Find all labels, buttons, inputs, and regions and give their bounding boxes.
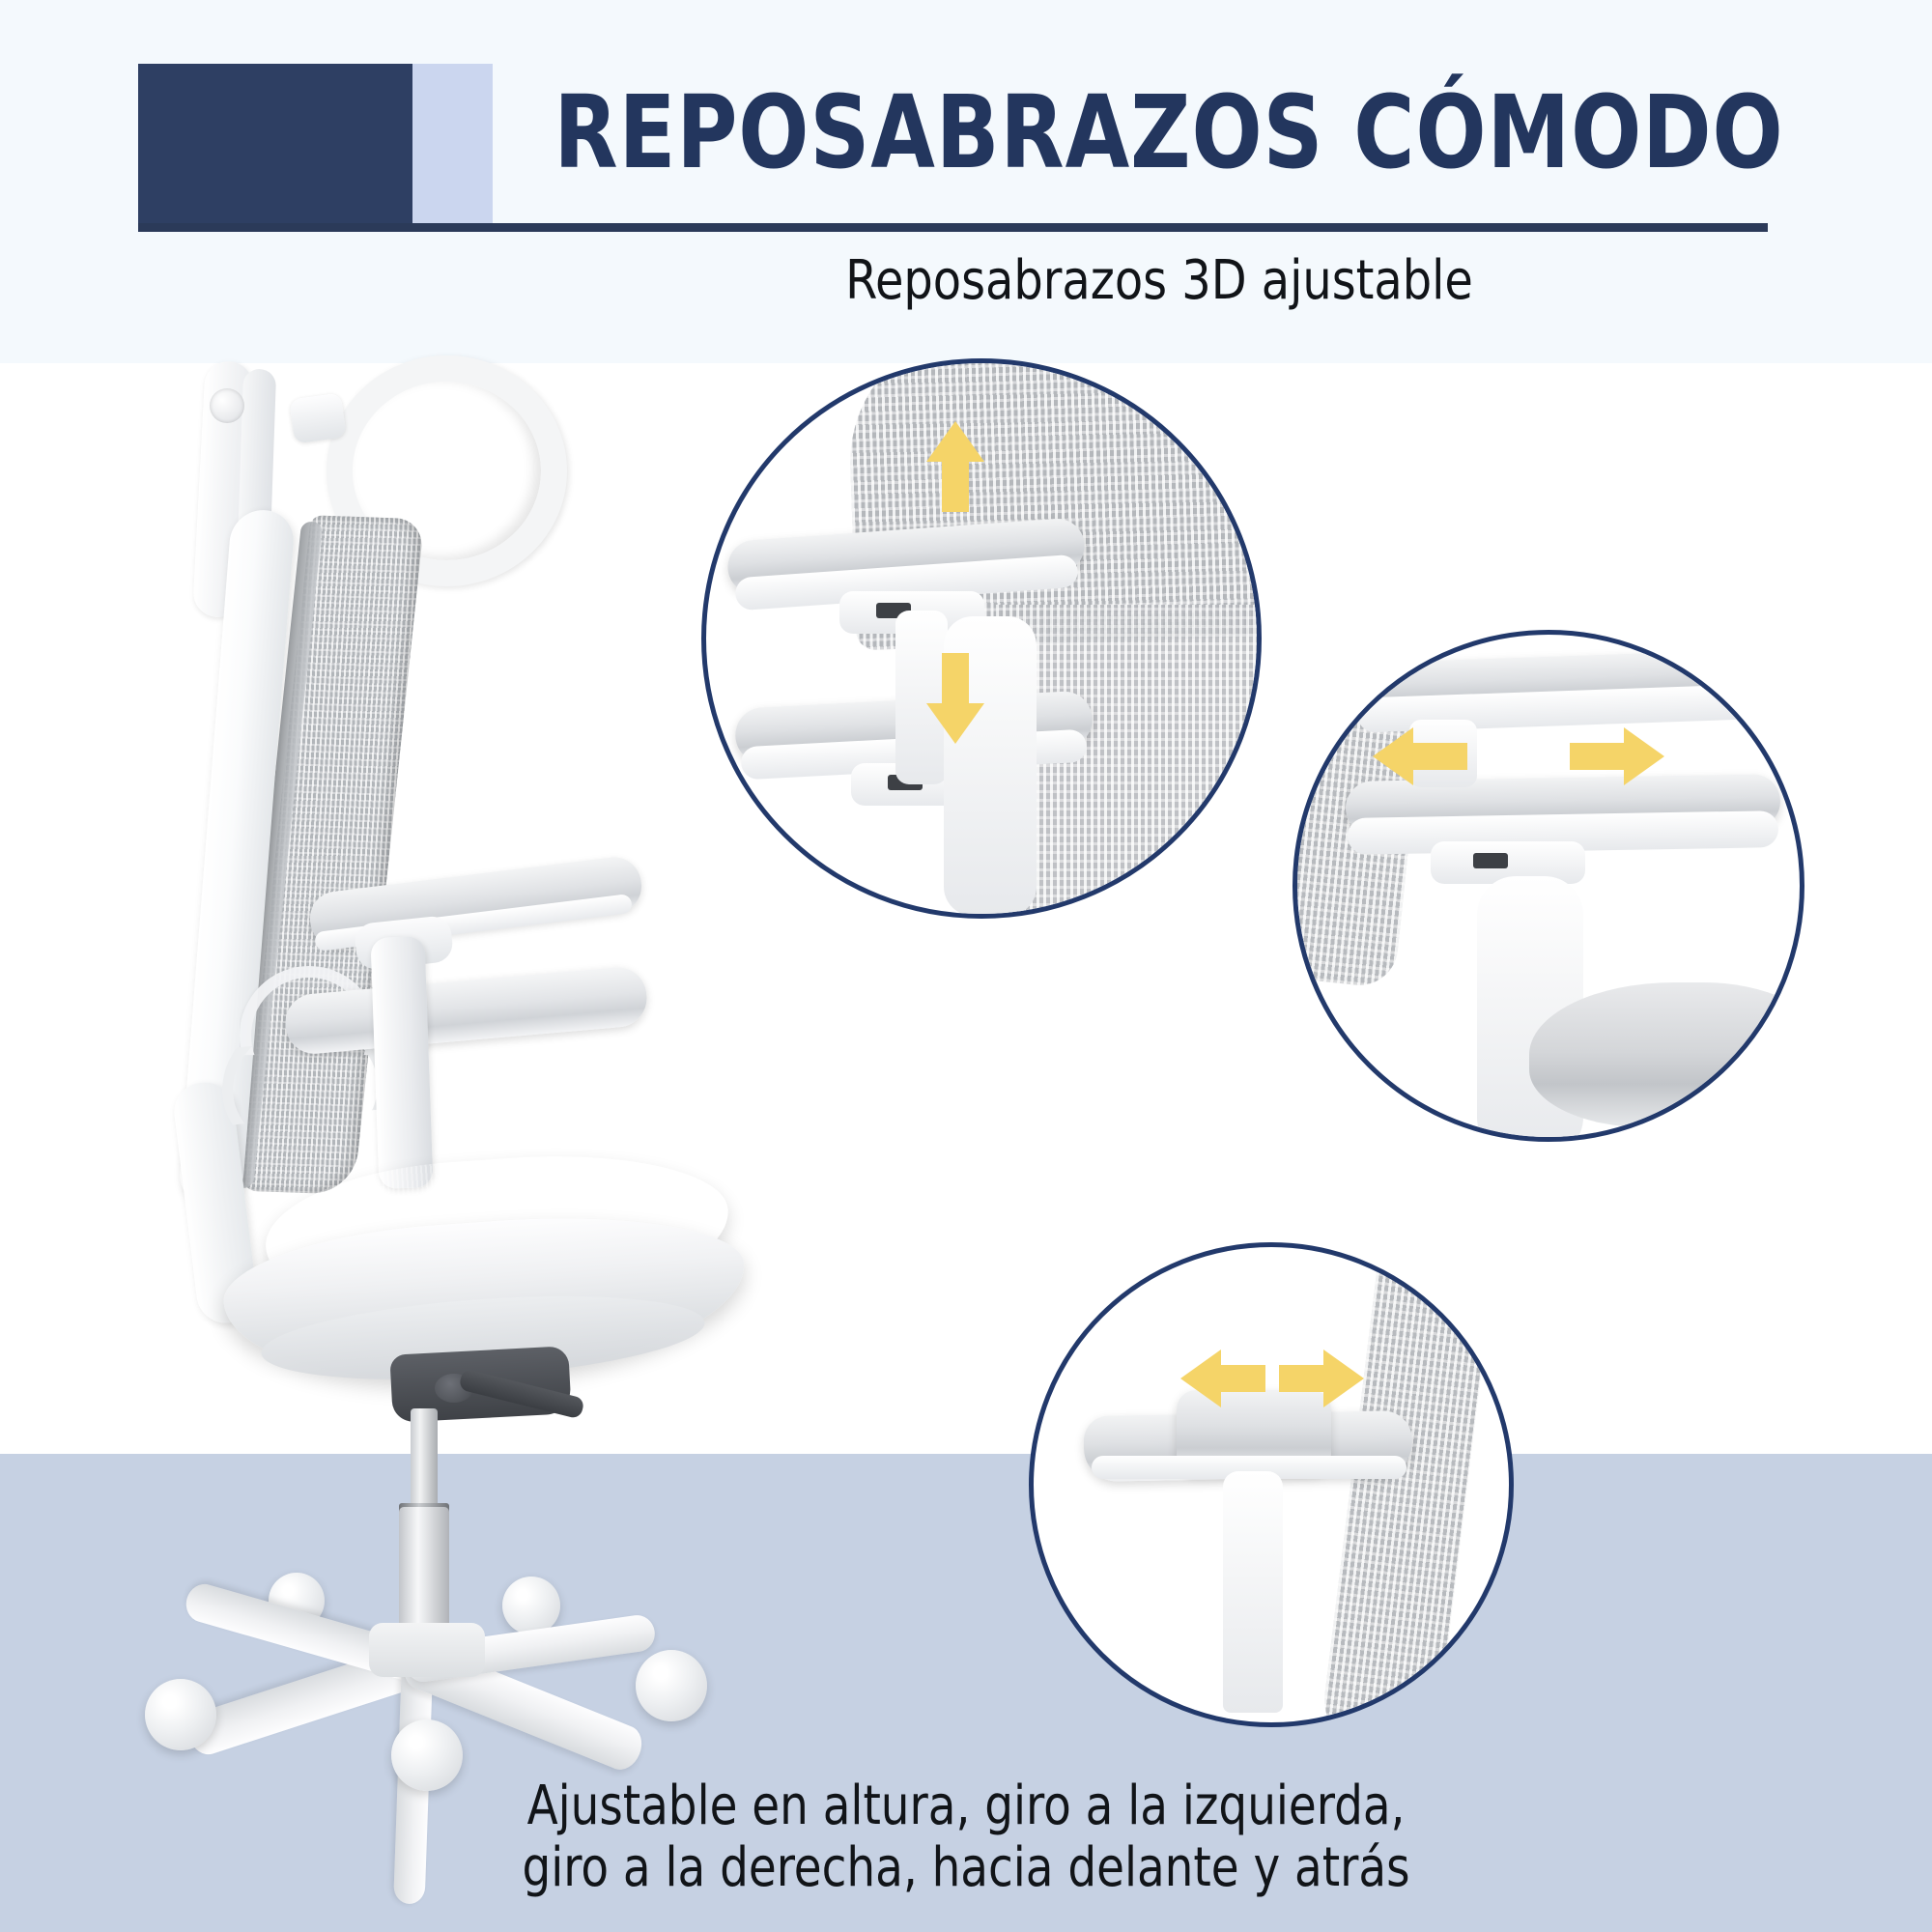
callout3-armrest-column: [1223, 1471, 1283, 1713]
armrest-post: [370, 936, 433, 1189]
caption-line-1: Ajustable en altura, giro a la izquierda…: [337, 1776, 1595, 1837]
gas-cylinder-upper: [411, 1408, 438, 1515]
arrow-left-icon: [1373, 727, 1467, 785]
headrest-adjust-knob-icon: [210, 388, 244, 423]
arrow-right-icon: [1279, 1350, 1364, 1407]
arrow-down-icon: [926, 653, 984, 744]
product-feature-slide: REPOSABRAZOS CÓMODO Reposabrazos 3D ajus…: [0, 0, 1932, 1932]
page-title: REPOSABRAZOS CÓMODO: [591, 60, 1747, 205]
caster-wheel: [636, 1650, 707, 1721]
header-accent-block-navy: [138, 64, 412, 223]
callout-armrest-height: [701, 358, 1262, 919]
page-subtitle: Reposabrazos 3D ajustable: [517, 249, 1802, 312]
arrow-right-icon: [1570, 727, 1664, 785]
header-divider-rule: [138, 223, 1768, 232]
gas-cylinder-lower: [399, 1507, 449, 1633]
headrest-clip: [289, 392, 347, 443]
header-accent-block-light: [412, 64, 493, 223]
base-hub: [369, 1623, 485, 1677]
caster-wheel: [145, 1679, 216, 1750]
arrow-left-icon: [1180, 1350, 1265, 1407]
arrow-up-icon: [926, 421, 984, 512]
callout2-seat-edge: [1529, 982, 1804, 1127]
caption-line-2: giro a la derecha, hacia delante y atrás: [337, 1837, 1595, 1899]
callout-armrest-depth: [1293, 630, 1804, 1142]
callout2-adjust-button: [1473, 853, 1508, 868]
feature-caption: Ajustable en altura, giro a la izquierda…: [337, 1776, 1595, 1899]
callout-armrest-pivot: [1029, 1242, 1514, 1727]
caster-wheel: [502, 1577, 560, 1634]
